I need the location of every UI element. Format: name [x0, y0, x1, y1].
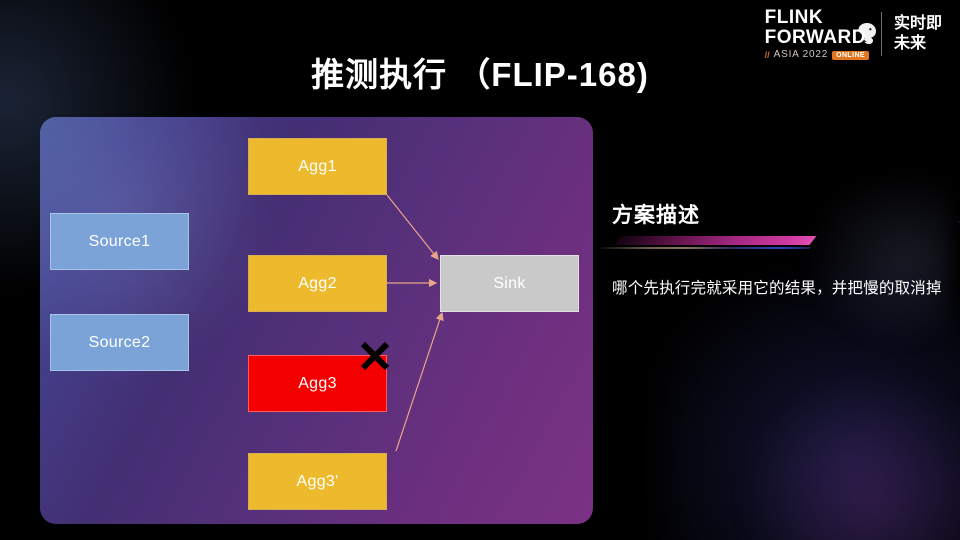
edge-agg1-sink — [387, 195, 438, 259]
logo-cn-line-1: 实时即 — [894, 14, 942, 34]
description-body: 哪个先执行完就采用它的结果，并把慢的取消掉 — [612, 276, 960, 298]
node-source1[interactable]: Source1 — [50, 213, 189, 270]
node-label: Source2 — [89, 334, 151, 352]
logo-forward-text: FORWARD — [765, 28, 866, 47]
node-label: Agg2 — [298, 275, 337, 293]
node-label: Agg3 — [298, 375, 337, 393]
diagram-panel: Source1 Source2 Agg1 Agg2 Agg3 Agg3' Sin… — [40, 117, 593, 524]
page-title: 推测执行 （FLIP-168) — [0, 48, 960, 96]
logo-line-1: FLINK — [765, 8, 823, 27]
slide-root: FLINK FORWARD // ASIA 2022 ONLINE 实时即 未来… — [0, 0, 960, 540]
node-sink[interactable]: Sink — [440, 255, 579, 312]
logo-line-2: FORWARD — [765, 27, 866, 47]
right-sheen — [800, 170, 950, 350]
squirrel-icon — [854, 21, 880, 47]
cancel-x-icon — [358, 339, 392, 373]
bg-arc-streak — [546, 174, 960, 540]
node-label: Agg3' — [297, 473, 339, 491]
logo-flink-text: FLINK — [765, 8, 823, 27]
node-label: Source1 — [89, 233, 151, 251]
bottom-right-glow-purple — [740, 370, 960, 540]
node-label: Sink — [493, 275, 525, 293]
node-source2[interactable]: Source2 — [50, 314, 189, 371]
node-agg1[interactable]: Agg1 — [248, 138, 387, 195]
accent-bar — [614, 236, 816, 245]
accent-decoration — [600, 232, 830, 258]
accent-line — [599, 247, 811, 249]
node-agg3-speculative[interactable]: Agg3' — [248, 453, 387, 510]
node-label: Agg1 — [298, 158, 337, 176]
description-heading: 方案描述 — [612, 199, 700, 229]
node-agg2[interactable]: Agg2 — [248, 255, 387, 312]
edge-agg3p-sink — [396, 313, 442, 451]
